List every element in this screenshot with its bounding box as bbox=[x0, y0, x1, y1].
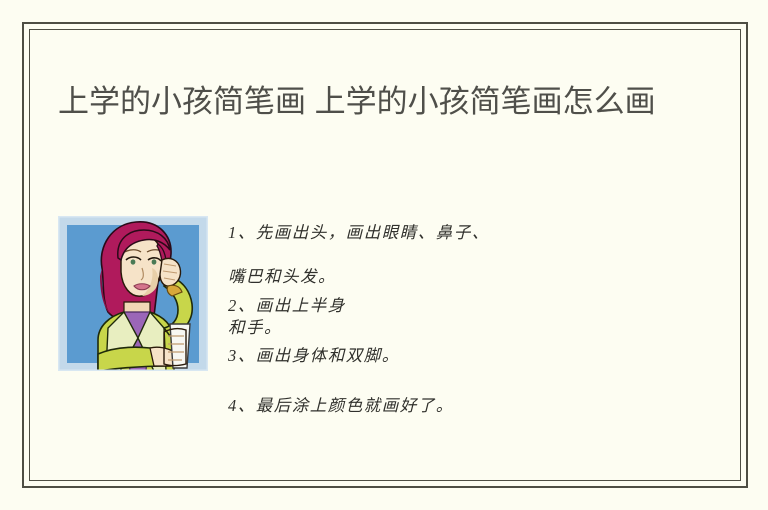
article-content: 1、先画出头，画出眼睛、鼻子、 嘴巴和头发。 2、画出上半身 和手。 3、画出身… bbox=[58, 216, 678, 436]
lips bbox=[134, 284, 150, 290]
iris-left bbox=[131, 259, 136, 264]
step-line-5: 3、画出身体和双脚。 bbox=[228, 342, 400, 366]
illustration-image bbox=[58, 216, 208, 371]
step-line-3: 2、画出上半身 bbox=[228, 292, 346, 316]
iris-right bbox=[152, 259, 157, 264]
drinking-glass bbox=[170, 324, 190, 368]
hand-holding-cup bbox=[150, 347, 174, 366]
step-line-2: 嘴巴和头发。 bbox=[228, 263, 336, 287]
step-line-1: 1、先画出头，画出眼睛、鼻子、 bbox=[228, 219, 490, 243]
step-line-4: 和手。 bbox=[228, 314, 282, 338]
page-title: 上学的小孩简笔画 上学的小孩简笔画怎么画 bbox=[58, 79, 668, 125]
step-line-6: 4、最后涂上颜色就画好了。 bbox=[228, 392, 454, 416]
